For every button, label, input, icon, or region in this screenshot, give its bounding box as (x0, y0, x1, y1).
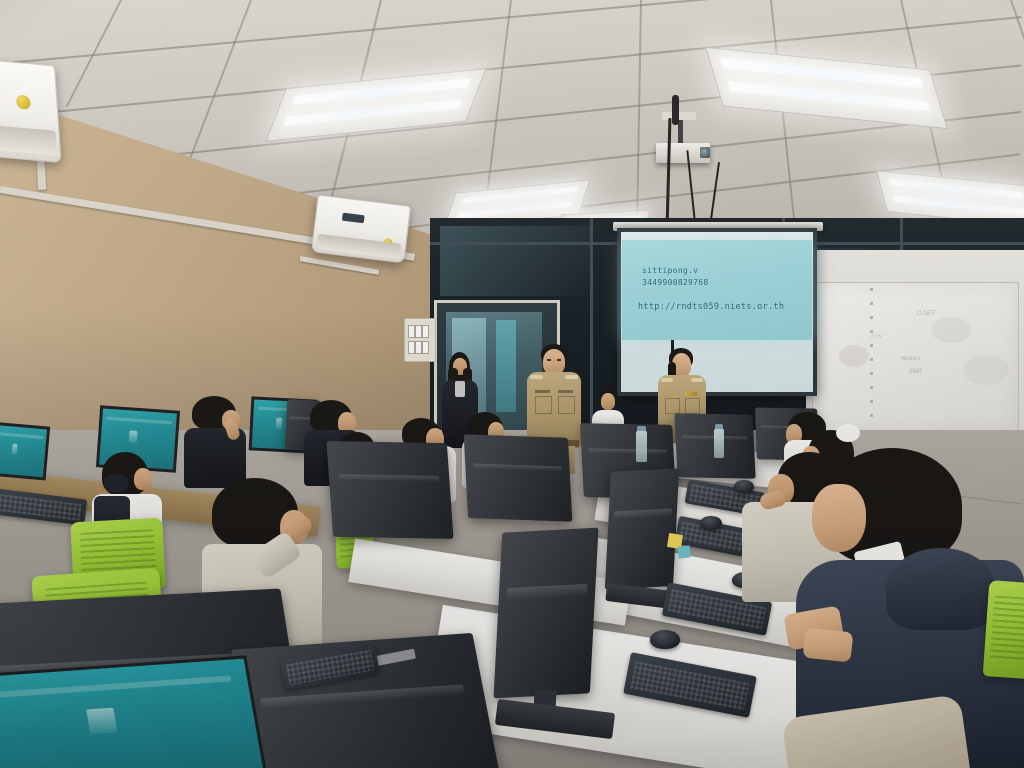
monitor[interactable] (464, 434, 573, 522)
whiteboard-mark: O-NET (917, 311, 936, 317)
projected-url: http://rndts059.niets.or.th (638, 302, 784, 312)
chair[interactable] (983, 580, 1024, 680)
monitor[interactable] (493, 528, 598, 699)
water-bottle[interactable] (636, 430, 647, 462)
classroom-photo: การ ทดสอบ 2567 O-NET sittipong.v 3449900… (0, 0, 1024, 768)
bottle-cap (637, 426, 646, 431)
air-conditioner-unit (311, 194, 411, 263)
person-student-seated (182, 396, 248, 488)
water-bottle[interactable] (714, 428, 724, 458)
monitor[interactable] (605, 468, 679, 589)
sticky-note (677, 545, 690, 558)
hair-bow (836, 424, 860, 442)
monitor[interactable] (0, 421, 50, 480)
monitor[interactable] (326, 441, 453, 539)
electrical-switch-panel[interactable] (404, 318, 436, 362)
air-conditioner-unit (0, 59, 62, 163)
projected-image: sittipong.v 3449900829768 http://rndts05… (622, 240, 812, 340)
ceiling-light-fixture (705, 47, 948, 129)
projector-ceiling-plate (662, 112, 696, 120)
projected-id-number: 3449900829768 (642, 278, 709, 287)
whiteboard-mark: ทดสอบ (901, 353, 920, 363)
whiteboard-mark: 2567 (909, 369, 922, 375)
whiteboard: การ ทดสอบ 2567 O-NET (812, 282, 1019, 434)
monitor[interactable] (0, 655, 267, 768)
hanging-cloth (496, 320, 516, 412)
antenna-icon (672, 95, 679, 125)
mouse[interactable] (650, 630, 680, 649)
projected-username: sittipong.v (642, 266, 698, 275)
whiteboard-hinge (870, 288, 873, 426)
projector-lens (700, 147, 710, 158)
bottle-cap (715, 424, 723, 429)
ceiling-light-fixture (265, 68, 486, 142)
mouse[interactable] (700, 516, 722, 530)
